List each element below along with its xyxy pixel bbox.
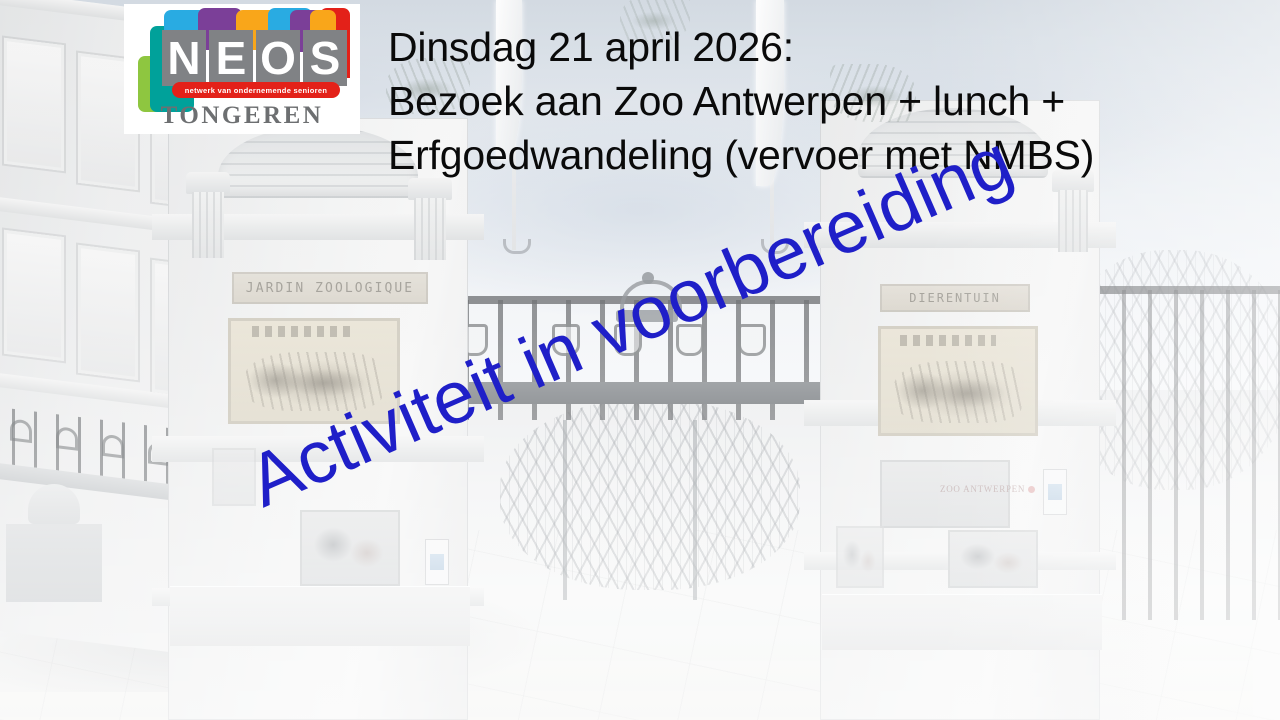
logo-chapter-name: TONGEREN	[124, 102, 360, 130]
logo-letter-o: O	[256, 30, 300, 86]
zoo-logo-text: ZOO ANTWERPEN	[940, 484, 1025, 494]
zoo-antwerpen-logo: ZOO ANTWERPEN	[940, 484, 1035, 494]
zoo-sign-window	[880, 460, 1010, 528]
logo-tagline-banner: netwerk van ondernemende senioren	[172, 82, 340, 98]
tree-branches	[500, 400, 800, 590]
plaque-dierentuin: DIERENTUIN	[880, 284, 1030, 312]
pylon-base	[170, 586, 470, 646]
slide-canvas: JARDIN ZOOLOGIQUE DIERENTUIN	[0, 0, 1280, 720]
column-capital	[186, 172, 230, 194]
pylon-lower-window	[836, 526, 884, 588]
stone-pedestal	[6, 524, 102, 602]
info-sign	[1044, 470, 1066, 514]
title-line-3: Erfgoedwandeling (vervoer met NMBS)	[388, 128, 1208, 182]
mosaic-tiger-right	[878, 326, 1038, 436]
plaque-text: JARDIN ZOOLOGIQUE	[246, 281, 414, 296]
column	[1058, 190, 1088, 252]
info-sign	[426, 540, 448, 584]
title-line-2: Bezoek aan Zoo Antwerpen + lunch +	[388, 74, 1208, 128]
logo-letter-n: N	[162, 30, 206, 86]
neos-tongeren-logo: N E O S netwerk van ondernemende seniore…	[124, 4, 360, 134]
gate-shield-icon	[738, 324, 766, 356]
title-line-1: Dinsdag 21 april 2026:	[388, 20, 1208, 74]
plaque-jardin-zoologique: JARDIN ZOOLOGIQUE	[232, 272, 428, 304]
slide-title: Dinsdag 21 april 2026: Bezoek aan Zoo An…	[388, 20, 1208, 182]
pylon-lower-window	[948, 530, 1038, 588]
logo-letter-s: S	[303, 30, 347, 86]
pylon-base	[822, 594, 1102, 650]
column	[414, 198, 446, 260]
logo-tagline-text: netwerk van ondernemende senioren	[185, 86, 327, 95]
logo-letter-e: E	[209, 30, 253, 86]
right-fence	[1070, 290, 1280, 620]
column	[192, 192, 224, 258]
logo-letter-row: N E O S	[162, 30, 347, 86]
plaque-text: DIERENTUIN	[909, 291, 1000, 305]
pylon-lower-window	[300, 510, 400, 586]
